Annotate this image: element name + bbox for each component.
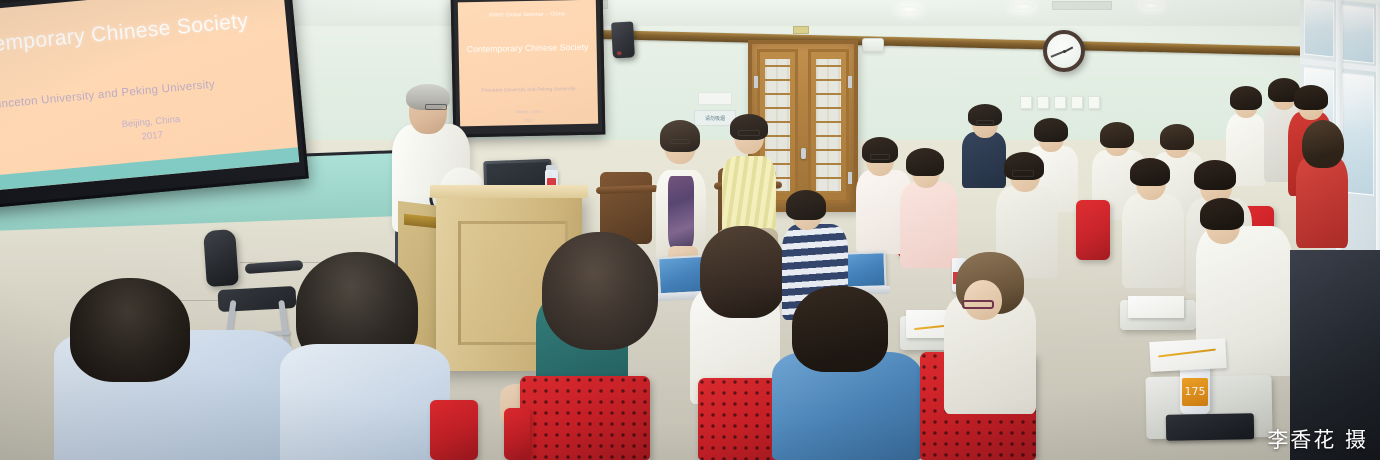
door-handle[interactable]	[801, 148, 806, 159]
ceiling-downlight	[1140, 2, 1162, 9]
light-switch[interactable]	[1037, 96, 1049, 109]
student-glasses	[976, 120, 994, 125]
slide-center-header: PIIRS Global Seminar – China	[458, 11, 596, 20]
slide-center-location: Beijing, China	[460, 108, 598, 116]
standing-student-hair	[1230, 86, 1262, 110]
door-lattice-glass	[816, 59, 841, 193]
light-switch[interactable]	[1054, 96, 1066, 109]
student-hair	[792, 286, 888, 372]
student-hair	[1194, 160, 1236, 190]
window-mullion	[1376, 4, 1380, 255]
light-switch-panel[interactable]	[1020, 96, 1106, 110]
slide-left-subtitle: Princeton University and Peking Universi…	[0, 72, 286, 112]
yogurt-bottle-label: 175	[1182, 378, 1208, 406]
classroom-lecture-photo: 请勿吸烟 ontemporary Chinese Society Princet…	[0, 0, 1380, 460]
lectern-top	[430, 185, 588, 198]
ceiling-speaker	[611, 21, 635, 58]
student-pink-shirt	[900, 182, 958, 268]
door-sign	[793, 26, 809, 34]
foreground-man-hair	[70, 278, 190, 382]
student-hair	[906, 148, 944, 176]
guest-a-hair	[660, 120, 700, 152]
ceiling-vent	[1052, 1, 1112, 10]
student-hair	[1130, 158, 1170, 186]
student-hair	[1200, 198, 1244, 230]
slide-left: ontemporary Chinese Society Princeton Un…	[0, 0, 299, 191]
photographer-credit: 李香花 摄	[1267, 424, 1368, 454]
door-hinge	[848, 172, 852, 184]
guest-a-glasses	[670, 139, 690, 144]
student-hair	[786, 190, 826, 220]
foreground-man-shirt	[280, 344, 450, 460]
slide-center-title: Contemporary Chinese Society	[459, 42, 597, 55]
student-torso	[1122, 194, 1184, 288]
ceiling-downlight	[1012, 3, 1034, 10]
chair-armrest	[504, 408, 530, 460]
standing-student-torso	[1296, 156, 1348, 248]
student-torso	[962, 132, 1006, 188]
office-chair-backrest[interactable]	[203, 229, 239, 287]
student-curly-hair	[542, 232, 658, 350]
light-switch[interactable]	[1020, 96, 1032, 109]
classroom-chair[interactable]	[520, 376, 650, 460]
wall-notice	[698, 92, 732, 105]
speaker-glasses	[425, 104, 447, 110]
clock-center-pin	[1063, 50, 1066, 53]
slide-left-title: ontemporary Chinese Society	[0, 5, 293, 59]
guest-a-floral-dress	[668, 176, 694, 250]
student-glasses	[870, 154, 890, 160]
door-leaf-right[interactable]	[808, 49, 849, 203]
light-switch[interactable]	[1071, 96, 1083, 109]
ceiling-downlight	[898, 6, 920, 13]
student-hair-bob	[700, 226, 786, 318]
guest-b-glasses	[738, 130, 760, 136]
projection-screen-left: ontemporary Chinese Society Princeton Un…	[0, 0, 309, 209]
window-pane	[1342, 4, 1374, 63]
slide-center: PIIRS Global Seminar – China Contemporar…	[458, 0, 598, 126]
light-switch[interactable]	[1088, 96, 1100, 109]
slide-center-subtitle: Princeton University and Peking Universi…	[459, 86, 597, 95]
standing-student-hair	[1294, 85, 1328, 110]
projection-screen-center: PIIRS Global Seminar – China Contemporar…	[451, 0, 606, 137]
classroom-chair[interactable]	[430, 400, 478, 460]
door-hinge	[754, 76, 758, 88]
student-glasses	[962, 300, 994, 309]
guest-b-hair	[730, 114, 768, 140]
door-hinge	[848, 76, 852, 88]
student-hair	[1034, 118, 1068, 142]
standing-student-hair	[1302, 120, 1344, 168]
classroom-chair[interactable]	[1076, 200, 1110, 260]
student-hair	[1100, 122, 1134, 148]
smartphone[interactable]	[1166, 413, 1254, 441]
notebook[interactable]	[1128, 296, 1184, 318]
slide-center-year: 2017	[460, 117, 598, 125]
smoke-detector	[862, 38, 884, 52]
student-glasses	[1012, 170, 1034, 177]
wall-clock	[1043, 30, 1085, 72]
student-hair	[1160, 124, 1194, 150]
window-pane	[1304, 0, 1334, 58]
